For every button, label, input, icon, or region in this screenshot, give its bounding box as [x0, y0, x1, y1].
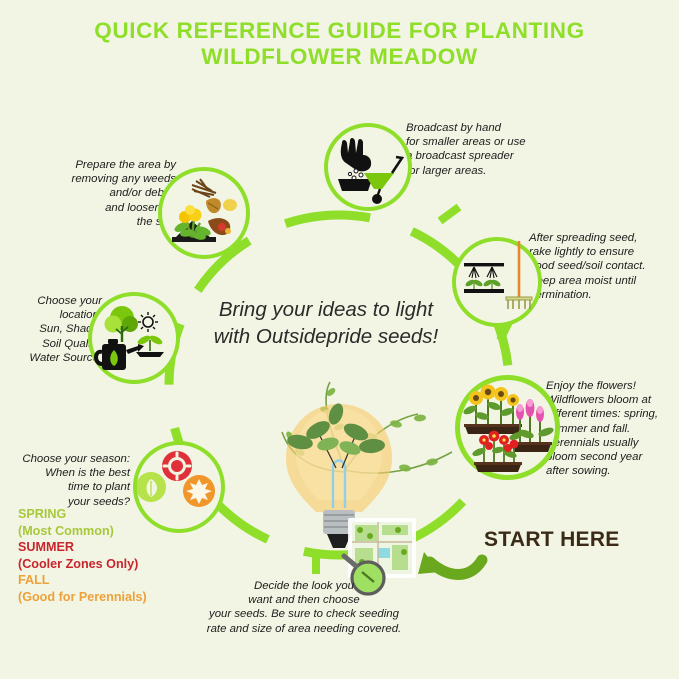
start-here-arrow-icon [418, 552, 482, 575]
step-node-location[interactable] [88, 292, 180, 384]
caption-rake: After spreading seed, rake lightly to en… [529, 231, 679, 302]
start-here-label: START HERE [484, 528, 620, 552]
season-badge-summer-icon [162, 451, 192, 481]
step-node-prepare[interactable] [158, 167, 250, 259]
season-badges-icon [137, 445, 221, 529]
slogan-line-1: Bring your ideas to light [186, 296, 466, 323]
rake-sprinkler-seedlings-icon [456, 241, 538, 323]
step-node-season[interactable] [133, 441, 225, 533]
season-fall-note: (Good for Perennials) [18, 589, 198, 606]
season-fall-name: FALL [18, 572, 198, 589]
slogan-line-2: with Outsidepride seeds! [186, 323, 466, 350]
infographic-canvas: QUICK REFERENCE GUIDE FOR PLANTING WILDF… [0, 0, 679, 679]
season-badge-spring-icon [137, 472, 166, 502]
caption-enjoy: Enjoy the flowers! Wildflowers bloom at … [546, 379, 679, 478]
caption-location: Choose your location: Sun, Shade, Soil Q… [6, 294, 102, 365]
flower-beds-icon [460, 380, 557, 477]
caption-broadcast: Broadcast by hand for smaller areas or u… [406, 121, 558, 178]
hand-seeding-spreader-icon [328, 127, 408, 207]
season-summer-note: (Cooler Zones Only) [18, 556, 198, 573]
tree-sun-wateringcan-icon [92, 296, 176, 380]
caption-decide: Decide the look you want and then choose… [188, 579, 420, 636]
step-node-rake[interactable] [452, 237, 542, 327]
caption-season: Choose your season: When is the best tim… [12, 452, 130, 509]
weeds-debris-soil-icon [162, 171, 246, 255]
step-node-broadcast[interactable] [324, 123, 412, 211]
step-node-enjoy[interactable] [455, 375, 560, 480]
season-badge-fall-icon [183, 475, 215, 507]
brand-slogan: Bring your ideas to light with Outsidepr… [186, 296, 466, 350]
season-summer-name: SUMMER [18, 539, 198, 556]
